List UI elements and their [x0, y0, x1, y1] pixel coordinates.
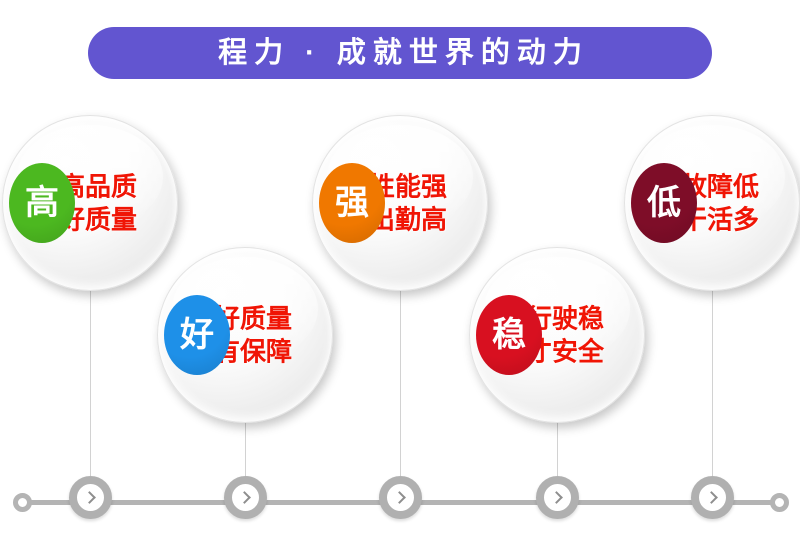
infographic-canvas: 程力 · 成就世界的动力 高高品质好质量好好质量有保障强性能强出勤高稳行驶稳才安…	[0, 0, 800, 536]
feature-slogan-line1: 行驶稳	[526, 302, 644, 335]
timeline-node[interactable]	[224, 476, 267, 519]
chevron-right-icon	[705, 491, 718, 504]
feature-badge: 稳	[476, 295, 542, 375]
feature-slogan: 行驶稳才安全	[526, 302, 644, 368]
feature-slogan: 高品质好质量	[59, 170, 177, 236]
feature-badge: 低	[631, 163, 697, 243]
feature-badge: 好	[164, 295, 230, 375]
timeline-node[interactable]	[69, 476, 112, 519]
connector-stem	[712, 289, 713, 476]
chevron-right-icon	[393, 491, 406, 504]
feature-slogan-line2: 干活多	[681, 203, 799, 236]
feature-badge: 强	[319, 163, 385, 243]
feature-bubble[interactable]: 低故障低干活多	[624, 115, 800, 291]
feature-slogan: 性能强出勤高	[369, 170, 487, 236]
page-title: 程力 · 成就世界的动力	[211, 39, 589, 68]
feature-slogan-line1: 好质量	[214, 302, 332, 335]
connector-stem	[90, 289, 91, 476]
feature-slogan-line2: 才安全	[526, 335, 644, 368]
feature-slogan-line2: 有保障	[214, 335, 332, 368]
feature-slogan: 故障低干活多	[681, 170, 799, 236]
feature-bubble[interactable]: 强性能强出勤高	[312, 115, 488, 291]
timeline-cap-left	[13, 493, 32, 512]
connector-stem	[400, 289, 401, 476]
feature-slogan-line1: 性能强	[369, 170, 487, 203]
feature-badge: 高	[9, 163, 75, 243]
timeline-node[interactable]	[379, 476, 422, 519]
timeline	[0, 460, 800, 536]
feature-slogan: 好质量有保障	[214, 302, 332, 368]
header-banner: 程力 · 成就世界的动力	[88, 27, 712, 79]
timeline-cap-right	[770, 493, 789, 512]
feature-bubble[interactable]: 稳行驶稳才安全	[469, 247, 645, 423]
feature-bubble[interactable]: 高高品质好质量	[2, 115, 178, 291]
feature-slogan-line2: 好质量	[59, 203, 177, 236]
feature-bubble[interactable]: 好好质量有保障	[157, 247, 333, 423]
chevron-right-icon	[83, 491, 96, 504]
feature-slogan-line1: 故障低	[681, 170, 799, 203]
feature-slogan-line1: 高品质	[59, 170, 177, 203]
feature-slogan-line2: 出勤高	[369, 203, 487, 236]
chevron-right-icon	[238, 491, 251, 504]
timeline-node[interactable]	[536, 476, 579, 519]
chevron-right-icon	[550, 491, 563, 504]
timeline-node[interactable]	[691, 476, 734, 519]
